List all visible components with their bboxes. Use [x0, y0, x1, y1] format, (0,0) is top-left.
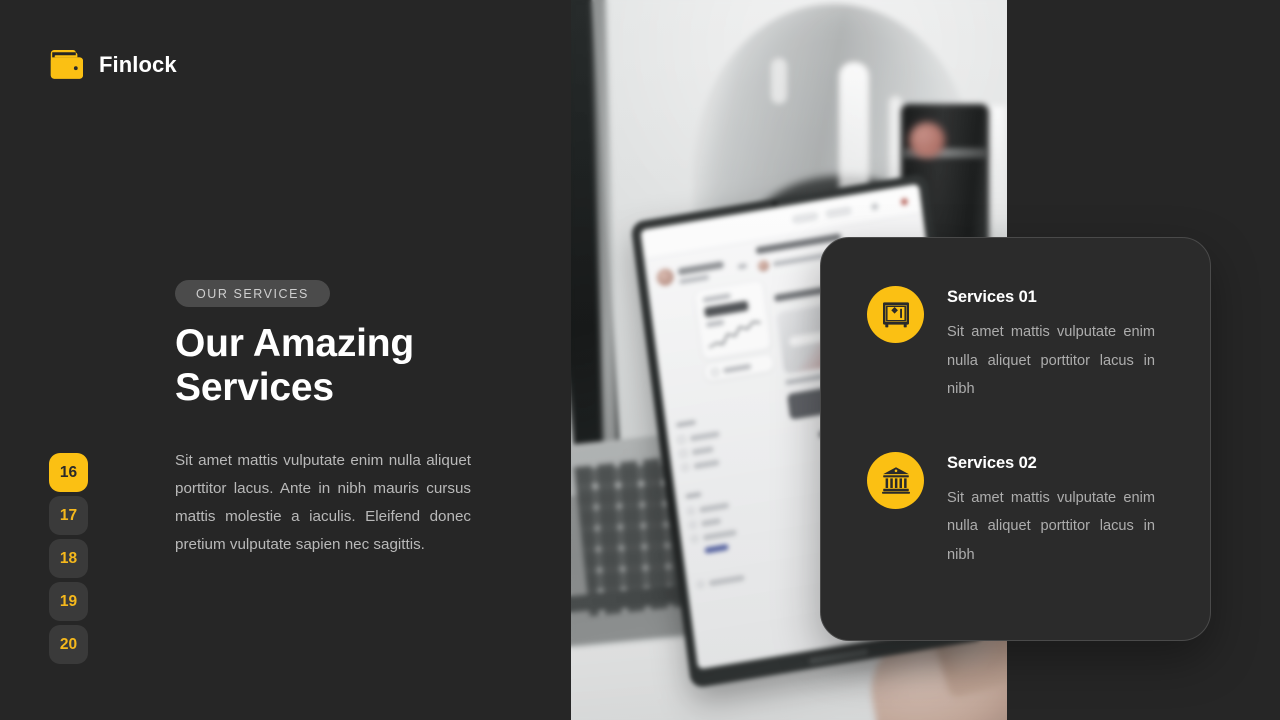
photo-dashboard-nav-item: [691, 446, 713, 456]
page-title-line-1: Our Amazing: [175, 322, 414, 365]
photo-dashboard-nav-icon: [689, 521, 697, 529]
photo-dashboard-nav-item: [701, 518, 722, 527]
service-text-block: Services 02 Sit amet mattis vulputate en…: [947, 452, 1155, 570]
photo-dashboard-username: [678, 261, 724, 276]
photo-dashboard-nav-icon: [681, 463, 689, 471]
slide-nav-item-19[interactable]: 19: [49, 582, 88, 621]
photo-dashboard-dot: [900, 198, 908, 206]
photo-dashboard-nav-item: [693, 459, 719, 469]
photo-dashboard-avatar: [757, 259, 769, 272]
bank-building-icon: [867, 452, 924, 509]
service-description: Sit amet mattis vulputate enim nulla ali…: [947, 484, 1155, 570]
photo-dashboard-nav-item: [699, 502, 729, 513]
section-paragraph: Sit amet mattis vulputate enim nulla ali…: [175, 447, 471, 559]
photo-dashboard-chip: [792, 212, 819, 224]
photo-dashboard-chip: [825, 206, 852, 218]
photo-dashboard-balance-card: [695, 281, 771, 360]
safe-vault-glyph: [881, 300, 911, 330]
photo-dashboard-nav-heading: [685, 492, 701, 500]
safe-vault-icon: [867, 286, 924, 343]
photo-dashboard-icon: [711, 368, 719, 376]
slide-nav-item-16[interactable]: 16: [49, 453, 88, 492]
service-text-block: Services 01 Sit amet mattis vulputate en…: [947, 286, 1155, 404]
photo-dome-highlight-shape: [771, 58, 787, 104]
service-item[interactable]: Services 02 Sit amet mattis vulputate en…: [867, 452, 1176, 570]
photo-dashboard-action-card: [705, 354, 774, 381]
slide-nav-item-20[interactable]: 20: [49, 625, 88, 664]
brand-name: Finlock: [99, 52, 177, 78]
photo-dashboard-dot: [871, 203, 879, 211]
photo-dashboard-nav-icon: [679, 449, 687, 457]
photo-dashboard-nav-icon: [687, 507, 695, 515]
photo-dashboard-nav-item: [709, 575, 745, 587]
slide-number-nav[interactable]: 16 17 18 19 20: [49, 453, 88, 664]
service-title: Services 02: [947, 454, 1155, 473]
photo-dashboard-nav-item: [703, 529, 737, 541]
photo-dashboard-subtext: [738, 263, 748, 269]
photo-dashboard-nav-item: [690, 431, 720, 442]
slide-nav-item-18[interactable]: 18: [49, 539, 88, 578]
page-title-line-2: Services: [175, 366, 334, 409]
service-title: Services 01: [947, 288, 1155, 307]
photo-red-accent-shape: [909, 122, 945, 158]
photo-dashboard-nav-active: [704, 544, 728, 554]
photo-dashboard-subtext: [679, 275, 709, 285]
photo-dashboard-nav-heading: [676, 420, 696, 428]
bank-building-glyph: [881, 465, 911, 495]
photo-dashboard-avatar: [656, 267, 675, 287]
photo-dashboard-balance-value: [704, 300, 749, 317]
page-title: Our Amazing Services: [175, 322, 595, 411]
service-description: Sit amet mattis vulputate enim nulla ali…: [947, 318, 1155, 404]
service-item[interactable]: Services 01 Sit amet mattis vulputate en…: [867, 286, 1176, 404]
photo-dashboard-nav-icon: [691, 535, 699, 543]
slide-nav-item-17[interactable]: 17: [49, 496, 88, 535]
section-badge-label: OUR SERVICES: [196, 287, 309, 301]
section-badge: OUR SERVICES: [175, 280, 330, 307]
services-card: Services 01 Sit amet mattis vulputate en…: [820, 237, 1211, 641]
wallet-icon: [49, 48, 85, 81]
brand-logo[interactable]: Finlock: [49, 48, 177, 81]
photo-dashboard-label: [723, 364, 751, 374]
photo-tablet-camera-shape: [772, 201, 778, 207]
slide-canvas: Finlock OUR SERVICES Our Amazing Service…: [0, 0, 1280, 720]
photo-dashboard-label: [703, 293, 731, 303]
photo-dashboard-nav-icon: [697, 580, 705, 588]
photo-dashboard-nav-icon: [678, 436, 686, 444]
